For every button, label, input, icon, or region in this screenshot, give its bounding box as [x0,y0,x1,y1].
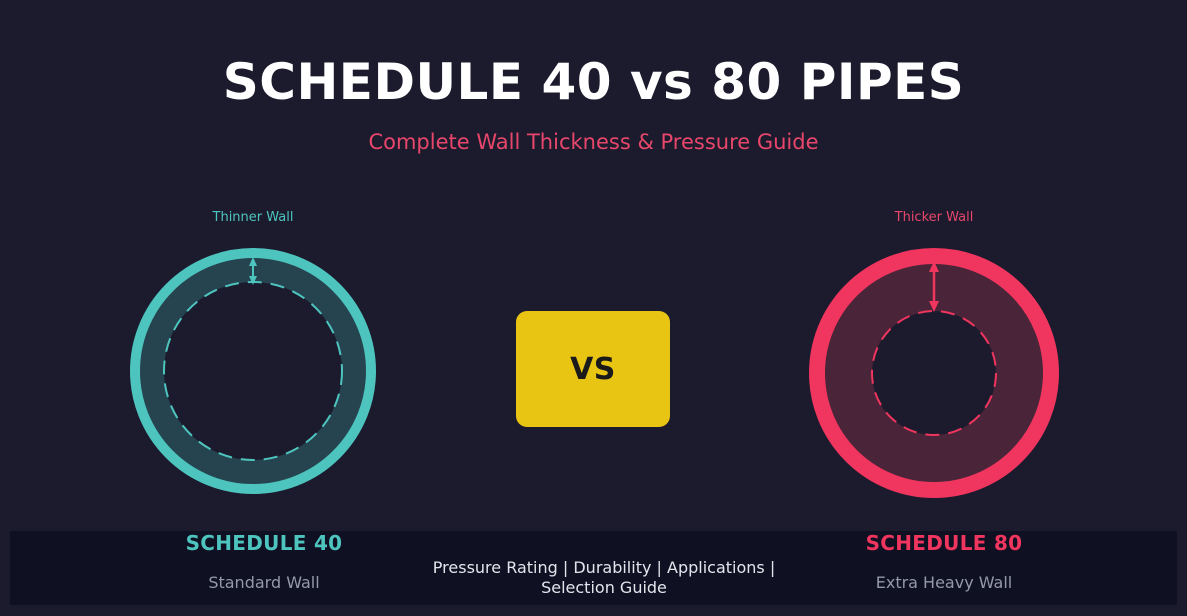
schedule-80-wall-description: Extra Heavy Wall [794,555,1094,593]
summary-features: Pressure Rating | Durability | Applicati… [414,531,794,598]
vs-badge: VS [516,311,670,427]
summary-schedule-80: SCHEDULE 80 Extra Heavy Wall [794,531,1094,593]
vs-label: VS [570,352,616,387]
feature-list: Pressure Rating | Durability | Applicati… [414,531,794,598]
pipe-cross-section-schedule-40 [130,248,376,494]
pipe-cross-section-schedule-80 [809,248,1059,498]
pipe-column-schedule-40: Thinner Wall [103,210,403,494]
wall-label-thicker: Thicker Wall [784,210,1084,226]
infographic-root: SCHEDULE 40 vs 80 PIPES Complete Wall Th… [0,0,1187,616]
schedule-40-wall-description: Standard Wall [114,555,414,593]
page-subtitle: Complete Wall Thickness & Pressure Guide [0,112,1187,155]
page-title: SCHEDULE 40 vs 80 PIPES [0,0,1187,112]
pipe-diagram-thick-wall-svg [809,248,1059,498]
schedule-80-title: SCHEDULE 80 [794,531,1094,555]
pipe-diagram-thin-wall-svg [130,248,376,494]
header: SCHEDULE 40 vs 80 PIPES Complete Wall Th… [0,0,1187,155]
bottom-summary-bar: SCHEDULE 40 Standard Wall Pressure Ratin… [10,531,1177,605]
wall-label-thinner: Thinner Wall [103,210,403,226]
summary-schedule-40: SCHEDULE 40 Standard Wall [114,531,414,593]
schedule-40-title: SCHEDULE 40 [114,531,414,555]
pipe-column-schedule-80: Thicker Wall [784,210,1084,498]
